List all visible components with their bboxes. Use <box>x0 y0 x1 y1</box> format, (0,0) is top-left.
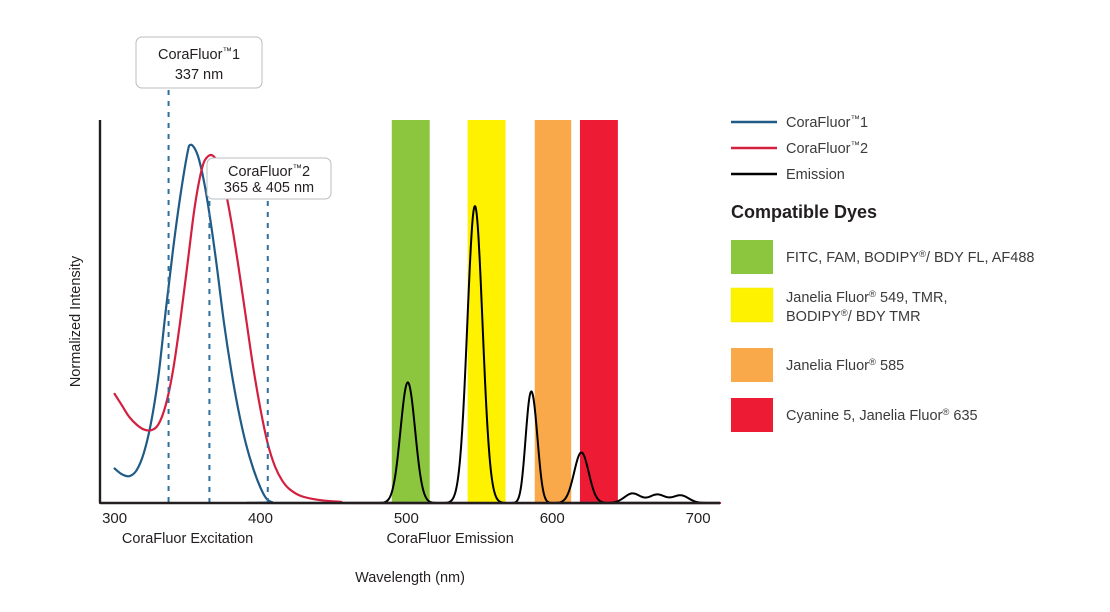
legend: CoraFluor™1CoraFluor™2EmissionCompatible… <box>731 114 1034 433</box>
axis-region-label: CoraFluor Emission <box>386 531 513 547</box>
legend-series-label: CoraFluor™1 <box>786 114 868 132</box>
dye-label: FITC, FAM, BODIPY®/ BDY FL, AF488 <box>786 249 1034 267</box>
annotation-coraFluor2: CoraFluor™2365 & 405 nm <box>207 158 331 199</box>
annotation-coraFluor1: CoraFluor™1337 nm <box>136 37 262 88</box>
dye-label: Janelia Fluor® 549, TMR, <box>786 289 947 307</box>
dye-color-swatch <box>731 398 773 432</box>
x-tick-label: 700 <box>686 510 711 527</box>
legend-series-label: Emission <box>786 167 845 183</box>
dye-color-swatch <box>731 288 773 322</box>
dye-color-swatch <box>731 240 773 274</box>
x-tick-label: 300 <box>102 510 127 527</box>
red-band <box>580 120 618 503</box>
axis-region-label: CoraFluor Excitation <box>122 531 253 547</box>
orange-band <box>535 120 571 503</box>
spectra-figure: 300400500600700CoraFluor ExcitationCoraF… <box>0 0 1110 612</box>
dye-color-swatch <box>731 348 773 382</box>
y-axis-title: Normalized Intensity <box>68 255 84 387</box>
annotation-line-2: 337 nm <box>175 67 223 83</box>
dye-label: Cyanine 5, Janelia Fluor® 635 <box>786 407 978 425</box>
dye-label: Janelia Fluor® 585 <box>786 357 904 375</box>
compatible-dyes-heading: Compatible Dyes <box>731 202 877 222</box>
annotation-line-2: 365 & 405 nm <box>224 180 314 196</box>
plot-bands <box>392 120 618 503</box>
x-axis-title: Wavelength (nm) <box>355 570 465 586</box>
green-band <box>392 120 430 503</box>
x-tick-label: 500 <box>394 510 419 527</box>
dye-label: BODIPY®/ BDY TMR <box>786 308 921 326</box>
legend-series-label: CoraFluor™2 <box>786 140 868 158</box>
yellow-band <box>468 120 506 503</box>
x-tick-label: 400 <box>248 510 273 527</box>
annotations: CoraFluor™1337 nmCoraFluor™2365 & 405 nm <box>136 37 331 199</box>
x-tick-label: 600 <box>540 510 565 527</box>
